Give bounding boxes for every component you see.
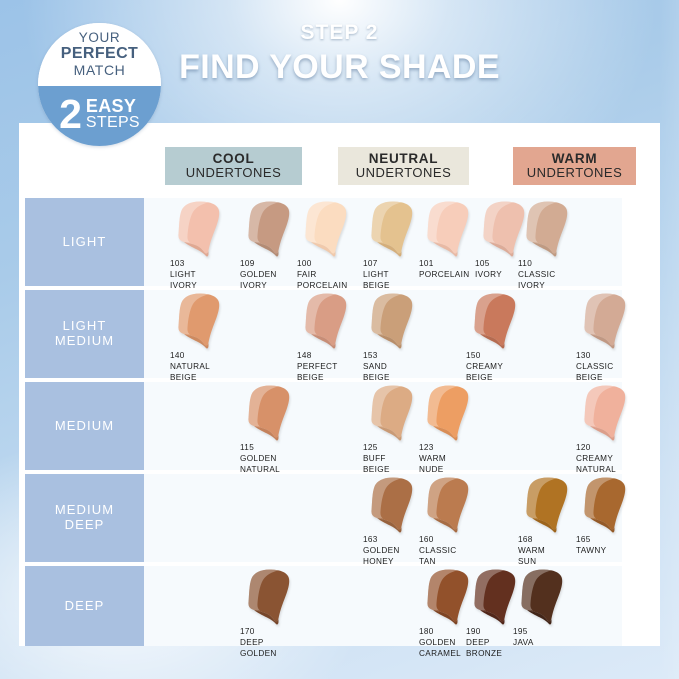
shade-label: 100 FAIR PORCELAIN [297, 259, 373, 291]
undertone-header-name: WARM [552, 152, 598, 166]
shade-swatch-140[interactable]: 140 NATURAL BEIGE [170, 292, 246, 383]
undertone-header-neutral: NEUTRALUNDERTONES [338, 147, 469, 185]
shade-label: 115 GOLDEN NATURAL [240, 443, 316, 475]
right-edge-gradient [660, 0, 679, 679]
foundation-smear-icon [579, 476, 631, 534]
foundation-smear-icon [366, 200, 418, 258]
foundation-smear-icon [173, 292, 225, 350]
shade-swatch-150[interactable]: 150 CREAMY BEIGE [466, 292, 542, 383]
row-label-medium-deep: MEDIUMDEEP [25, 474, 144, 562]
shade-swatch-153[interactable]: 153 SAND BEIGE [363, 292, 439, 383]
foundation-smear-icon [469, 292, 521, 350]
foundation-smear-icon [422, 476, 474, 534]
shade-swatch-110[interactable]: 110 CLASSIC IVORY [518, 200, 594, 291]
undertone-header-warm: WARMUNDERTONES [513, 147, 636, 185]
undertone-header-sub: UNDERTONES [186, 166, 282, 180]
foundation-smear-icon [366, 384, 418, 442]
badge-top: YOUR PERFECT MATCH [38, 23, 161, 86]
infographic-stage: STEP 2 FIND YOUR SHADE YOUR PERFECT MATC… [0, 0, 679, 679]
shade-swatch-170[interactable]: 170 DEEP GOLDEN [240, 568, 316, 659]
shade-label: 170 DEEP GOLDEN [240, 627, 316, 659]
badge-match: MATCH [74, 63, 126, 77]
shade-swatch-103[interactable]: 103 LIGHT IVORY [170, 200, 246, 291]
foundation-smear-icon [243, 568, 295, 626]
shade-swatch-160[interactable]: 160 CLASSIC TAN [419, 476, 495, 567]
shade-label: 148 PERFECT BEIGE [297, 351, 373, 383]
shade-swatch-123[interactable]: 123 WARM NUDE [419, 384, 495, 475]
shade-label: 120 CREAMY NATURAL [576, 443, 652, 475]
badge-easy-steps: EASY STEPS [86, 97, 140, 131]
badge-bottom: 2 EASY STEPS [38, 86, 161, 146]
shade-swatch-148[interactable]: 148 PERFECT BEIGE [297, 292, 373, 383]
shade-swatch-165[interactable]: 165 TAWNY [576, 476, 652, 557]
foundation-smear-icon [579, 292, 631, 350]
foundation-smear-icon [422, 384, 474, 442]
row-label-line: DEEP [65, 599, 105, 614]
foundation-smear-icon [521, 476, 573, 534]
row-label-line: MEDIUM [55, 334, 114, 349]
shade-label: 165 TAWNY [576, 535, 652, 557]
foundation-smear-icon [516, 568, 568, 626]
shade-swatch-100[interactable]: 100 FAIR PORCELAIN [297, 200, 373, 291]
foundation-smear-icon [300, 200, 352, 258]
shade-swatch-115[interactable]: 115 GOLDEN NATURAL [240, 384, 316, 475]
undertone-header-name: NEUTRAL [369, 152, 438, 166]
shade-swatch-130[interactable]: 130 CLASSIC BEIGE [576, 292, 652, 383]
perfect-match-badge: YOUR PERFECT MATCH 2 EASY STEPS [38, 23, 161, 146]
badge-step-count: 2 [59, 98, 81, 131]
shade-label: 110 CLASSIC IVORY [518, 259, 594, 291]
foundation-smear-icon [366, 292, 418, 350]
foundation-smear-icon [173, 200, 225, 258]
undertone-header-cool: COOLUNDERTONES [165, 147, 302, 185]
row-label-deep: DEEP [25, 566, 144, 646]
badge-easy: EASY [86, 97, 140, 115]
foundation-smear-icon [366, 476, 418, 534]
foundation-smear-icon [243, 384, 295, 442]
row-label-line: LIGHT [63, 319, 107, 334]
shade-swatch-120[interactable]: 120 CREAMY NATURAL [576, 384, 652, 475]
row-label-medium: MEDIUM [25, 382, 144, 470]
shade-swatch-195[interactable]: 195 JAVA [513, 568, 589, 649]
shade-label: 195 JAVA [513, 627, 589, 649]
foundation-smear-icon [521, 200, 573, 258]
shade-label: 130 CLASSIC BEIGE [576, 351, 652, 383]
foundation-smear-icon [243, 200, 295, 258]
shade-label: 153 SAND BEIGE [363, 351, 439, 383]
shade-label: 140 NATURAL BEIGE [170, 351, 246, 383]
badge-steps: STEPS [86, 115, 140, 131]
badge-your: YOUR [79, 31, 120, 45]
row-label-line: DEEP [65, 518, 105, 533]
shade-label: 150 CREAMY BEIGE [466, 351, 542, 383]
shade-label: 103 LIGHT IVORY [170, 259, 246, 291]
shade-row: MEDIUM [25, 382, 622, 470]
row-label-line: LIGHT [63, 235, 107, 250]
badge-perfect: PERFECT [61, 46, 138, 62]
foundation-smear-icon [579, 384, 631, 442]
foundation-smear-icon [300, 292, 352, 350]
undertone-header-sub: UNDERTONES [527, 166, 623, 180]
shade-label: 123 WARM NUDE [419, 443, 495, 475]
undertone-header-sub: UNDERTONES [356, 166, 452, 180]
undertone-header-name: COOL [213, 152, 255, 166]
row-label-line: MEDIUM [55, 503, 114, 518]
shade-label: 160 CLASSIC TAN [419, 535, 495, 567]
row-label-light-medium: LIGHTMEDIUM [25, 290, 144, 378]
row-label-light: LIGHT [25, 198, 144, 286]
foundation-smear-icon [422, 200, 474, 258]
row-label-line: MEDIUM [55, 419, 114, 434]
